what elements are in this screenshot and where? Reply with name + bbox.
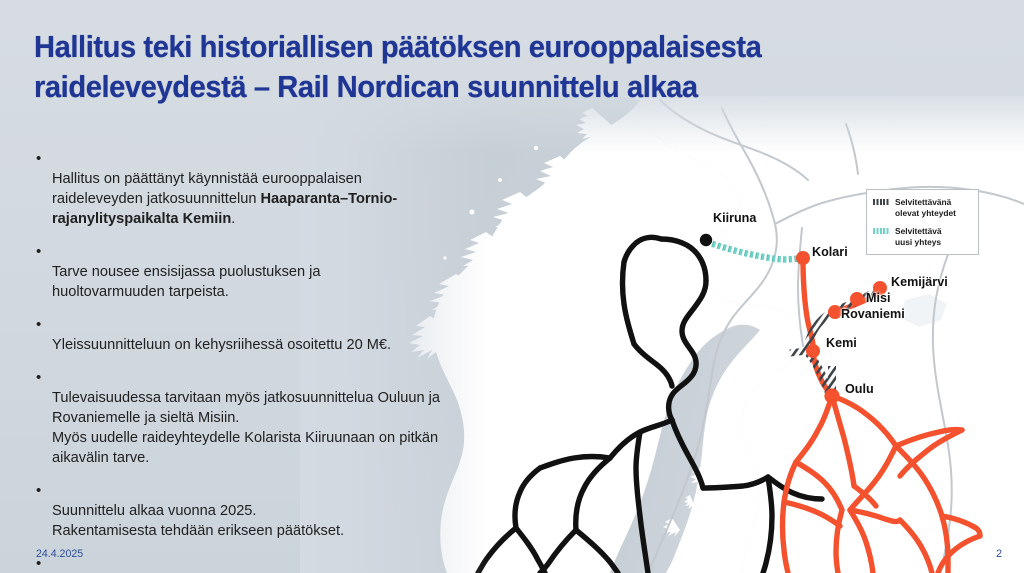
city-label-kemijarvi: Kemijärvi xyxy=(891,275,948,289)
city-label-kemi: Kemi xyxy=(826,336,857,350)
bullet-4-text: Tulevaisuudessa tarvitaan myös jatkosuun… xyxy=(52,390,440,466)
bullet-2-text: Tarve nousee ensisijassa puolustuksen ja… xyxy=(52,264,321,300)
bullet-item-5: Suunnittelu alkaa vuonna 2025. Rakentami… xyxy=(34,482,539,542)
bullet-3-text: Yleissuunnitteluun on kehysriihessä osoi… xyxy=(52,337,391,353)
bullet-item-6: Rail Nordican rakentamiskustannukset ole… xyxy=(34,555,539,573)
city-label-kolari: Kolari xyxy=(812,245,848,259)
bullet-5-text: Suunnittelu alkaa vuonna 2025. Rakentami… xyxy=(52,503,344,539)
city-label-rovaniemi: Rovaniemi xyxy=(841,307,905,321)
legend-label-existing: Selvitettävänä olevat yhteydet xyxy=(895,197,956,218)
map-legend: Selvitettävänä olevat yhteydet Selvitett… xyxy=(866,189,979,255)
legend-entry-existing: Selvitettävänä olevat yhteydet xyxy=(873,197,972,218)
dashed-line-teal-icon xyxy=(873,228,890,234)
city-dot-kiiruna xyxy=(700,234,712,246)
city-dot-misi xyxy=(850,292,864,306)
bullet-list: Hallitus on päättänyt käynnistää euroopp… xyxy=(34,150,539,573)
legend-label-new: Selvitettävä uusi yhteys xyxy=(895,226,942,247)
legend-entry-new: Selvitettävä uusi yhteys xyxy=(873,226,972,247)
bullet-1-post: . xyxy=(231,211,235,227)
city-dot-oulu xyxy=(824,388,839,403)
page-title: Hallitus teki historiallisen päätöksen e… xyxy=(34,28,894,107)
city-dot-kemi xyxy=(806,344,820,358)
bullet-item-4: Tulevaisuudessa tarvitaan myös jatkosuun… xyxy=(34,369,539,469)
footer-page-number: 2 xyxy=(996,548,1002,560)
city-dot-rovaniemi xyxy=(828,305,842,319)
bullet-item-3: Yleissuunnitteluun on kehysriihessä osoi… xyxy=(34,316,539,356)
dashed-line-dark-icon xyxy=(873,199,890,205)
city-dot-kolari xyxy=(796,251,810,265)
bullet-item-1: Hallitus on päättänyt käynnistää euroopp… xyxy=(34,150,539,230)
city-label-oulu: Oulu xyxy=(845,382,874,396)
bullet-item-2: Tarve nousee ensisijassa puolustuksen ja… xyxy=(34,243,539,303)
city-label-kiiruna: Kiiruna xyxy=(713,211,756,225)
city-label-misi: Misi xyxy=(866,291,891,305)
footer-date: 24.4.2025 xyxy=(36,548,83,560)
slide: Kiiruna Kolari Kemijärvi Misi Rovaniemi … xyxy=(0,0,1024,573)
